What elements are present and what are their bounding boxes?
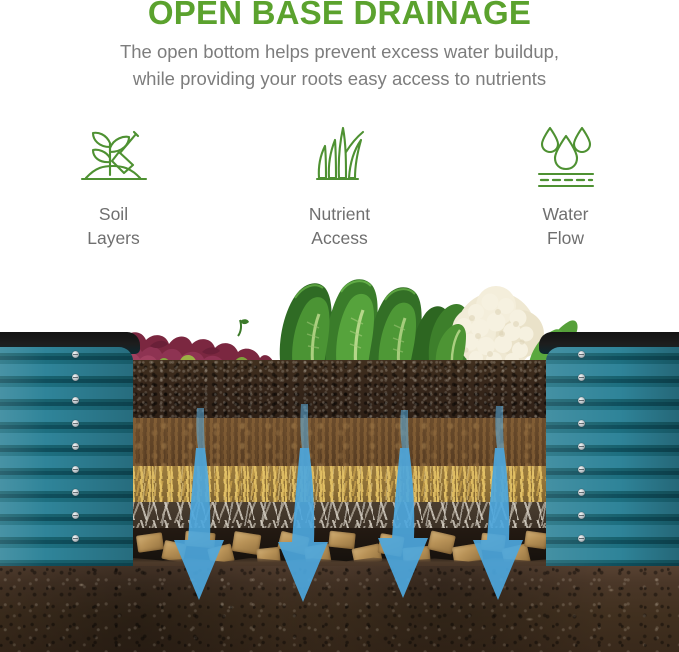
screw <box>72 489 79 496</box>
screw <box>72 466 79 473</box>
native-ground-soil <box>0 566 679 652</box>
left-corrugated-panel <box>0 347 133 566</box>
screw <box>578 351 585 358</box>
screw <box>578 397 585 404</box>
soil-layer-topsoil <box>133 360 546 418</box>
screw <box>578 466 585 473</box>
soil-layer-twigs <box>133 502 546 528</box>
screw <box>578 535 585 542</box>
soil-layer-straw <box>133 466 546 502</box>
screw <box>72 512 79 519</box>
screw <box>72 443 79 450</box>
screw <box>578 374 585 381</box>
garden-bed-illustration <box>0 0 679 652</box>
screw <box>578 489 585 496</box>
right-corrugated-panel <box>546 347 679 566</box>
screw <box>578 512 585 519</box>
screw <box>578 443 585 450</box>
screw <box>72 374 79 381</box>
screw <box>72 535 79 542</box>
infographic-root: OPEN BASE DRAINAGE The open bottom helps… <box>0 0 679 652</box>
screw <box>72 420 79 427</box>
green-romaine-lettuce <box>277 272 452 368</box>
screw <box>72 397 79 404</box>
soil-cross-section <box>133 360 546 566</box>
screw <box>72 351 79 358</box>
soil-layer-compost <box>133 418 546 466</box>
screw <box>578 420 585 427</box>
